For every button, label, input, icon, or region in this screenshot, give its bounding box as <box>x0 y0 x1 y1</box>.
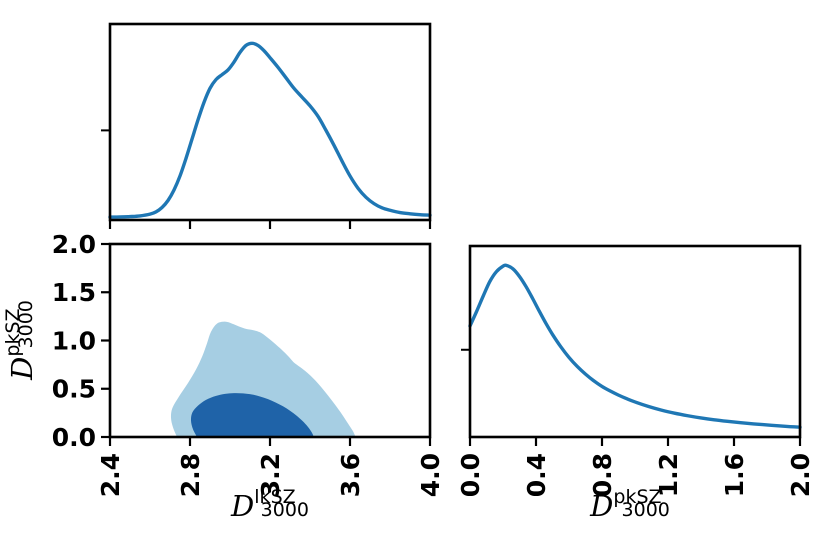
y-pksz-symbol: D <box>5 357 39 381</box>
axis-label-x-pksz: DpkSZ3000 <box>589 486 670 523</box>
svg-text:DpkSZ3000: DpkSZ3000 <box>589 486 670 523</box>
corner-plot-figure: 2.42.83.23.64.0 0.00.51.01.52.0 0.00.40.… <box>0 0 830 554</box>
right-xticklabel: 2.0 <box>786 453 815 497</box>
right-panel-xticks <box>470 437 800 446</box>
joint-panel-xticks <box>110 437 430 446</box>
x-lksz-subscript: 3000 <box>261 499 309 521</box>
panel-joint-contour: 2.42.83.23.64.0 0.00.51.01.52.0 <box>52 230 445 498</box>
panel-top-marginal-lksz <box>101 24 430 229</box>
right-xticklabel: 1.6 <box>720 453 749 497</box>
joint-yticklabel: 1.0 <box>52 326 96 355</box>
top-panel-background <box>110 24 430 220</box>
x-lksz-symbol: D <box>230 489 254 523</box>
y-pksz-subscript: 3000 <box>15 300 37 348</box>
top-panel-xticks <box>110 220 430 229</box>
joint-yticklabel: 1.5 <box>52 278 96 307</box>
corner-plot-svg: 2.42.83.23.64.0 0.00.51.01.52.0 0.00.40.… <box>0 0 830 554</box>
axis-label-x-lksz: DlkSZ3000 <box>230 486 309 523</box>
joint-panel-yticks <box>101 244 110 437</box>
axis-label-y-pksz: DpkSZ3000 <box>2 300 39 381</box>
joint-panel-yticklabels: 0.00.51.01.52.0 <box>52 230 96 452</box>
joint-xticklabel: 3.6 <box>336 453 365 497</box>
x-pksz-symbol: D <box>589 489 613 523</box>
svg-text:DlkSZ3000: DlkSZ3000 <box>230 486 309 523</box>
joint-xticklabel: 2.8 <box>176 453 205 497</box>
panel-right-marginal-pksz: 0.00.40.81.21.62.0 <box>456 246 815 497</box>
x-pksz-subscript: 3000 <box>622 499 670 521</box>
joint-yticklabel: 2.0 <box>52 230 96 259</box>
joint-xticklabel: 2.4 <box>96 453 125 497</box>
right-xticklabel: 0.4 <box>522 453 551 497</box>
joint-yticklabel: 0.0 <box>52 423 96 452</box>
joint-yticklabel: 0.5 <box>52 375 96 404</box>
right-xticklabel: 0.0 <box>456 453 485 497</box>
joint-xticklabel: 4.0 <box>416 453 445 497</box>
svg-text:DpkSZ3000: DpkSZ3000 <box>2 300 39 381</box>
